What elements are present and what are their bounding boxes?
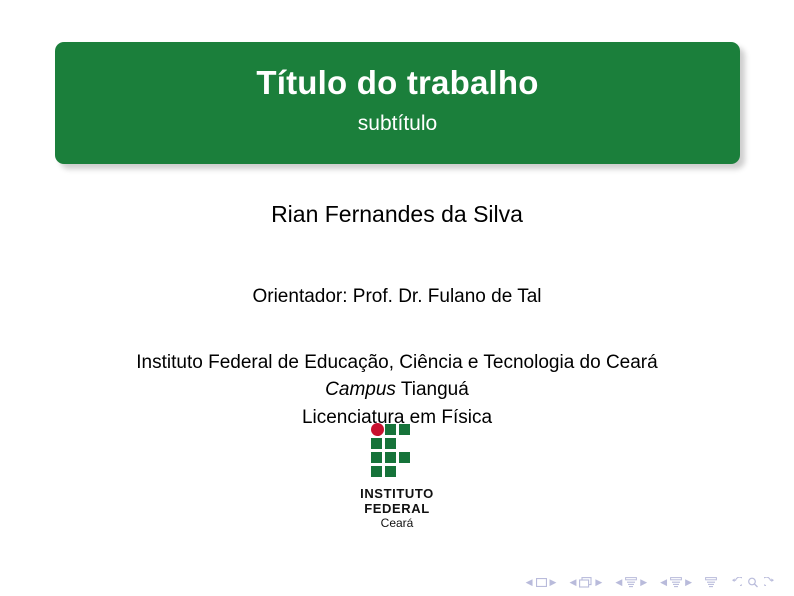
section-icon[interactable] [670,577,682,588]
logo-caption-instituto: INSTITUTO [360,486,434,501]
logo-square [371,452,382,463]
next-slide-arrow-icon[interactable]: ▶ [550,578,557,587]
logo-square [385,466,396,477]
ifce-logo: INSTITUTO FEDERAL Ceará [0,423,794,531]
frame-icon[interactable] [579,577,592,588]
prev-subsection-arrow-icon[interactable]: ◀ [615,578,622,587]
campus-word: Campus [325,379,396,400]
beamer-navigation-bar[interactable]: ◀ ▶ ◀ ▶ ◀ [526,577,776,588]
nav-group-subsection[interactable]: ◀ ▶ [615,577,647,588]
prev-frame-arrow-icon[interactable]: ◀ [569,578,576,587]
nav-group-section[interactable]: ◀ ▶ [660,577,692,588]
subsection-icon[interactable] [625,577,637,588]
logo-red-dot [371,423,384,436]
logo-square [399,424,410,435]
logo-square [371,466,382,477]
nav-group-utility[interactable] [730,577,776,588]
page-subtitle: subtítulo [358,112,437,135]
nav-group-frame[interactable]: ◀ ▶ [569,577,602,588]
presentation-slide: Título do trabalho subtítulo Rian Fernan… [0,0,794,596]
next-section-arrow-icon[interactable]: ▶ [685,578,692,587]
ifce-logo-icon [371,423,423,479]
logo-caption-federal: FEDERAL [360,501,434,516]
prev-section-arrow-icon[interactable]: ◀ [660,578,667,587]
campus-name: Tianguá [396,379,469,400]
institute-line-1: Instituto Federal de Educação, Ciência e… [0,349,794,377]
slide-metadata: Rian Fernandes da Silva Orientador: Prof… [0,200,794,432]
logo-square [371,438,382,449]
next-frame-arrow-icon[interactable]: ▶ [595,578,602,587]
next-subsection-arrow-icon[interactable]: ▶ [640,578,647,587]
author-name: Rian Fernandes da Silva [0,200,794,229]
logo-caption: INSTITUTO FEDERAL Ceará [360,486,434,531]
forward-arrow-icon[interactable] [764,577,776,588]
logo-square [385,438,396,449]
back-arrow-icon[interactable] [730,577,742,588]
nav-group-slide[interactable]: ◀ ▶ [526,578,557,587]
slide-icon[interactable] [536,578,547,587]
logo-square [385,424,396,435]
page-title: Título do trabalho [256,65,538,101]
title-block: Título do trabalho subtítulo [55,42,740,164]
advisor-line: Orientador: Prof. Dr. Fulano de Tal [0,285,794,309]
institute-block: Instituto Federal de Educação, Ciência e… [0,349,794,433]
institute-line-2: Campus Tianguá [0,376,794,404]
logo-square [385,452,396,463]
presentation-icon[interactable] [705,577,717,588]
logo-square [399,452,410,463]
logo-caption-ceara: Ceará [360,517,434,531]
search-icon[interactable] [747,577,759,588]
prev-slide-arrow-icon[interactable]: ◀ [526,578,533,587]
